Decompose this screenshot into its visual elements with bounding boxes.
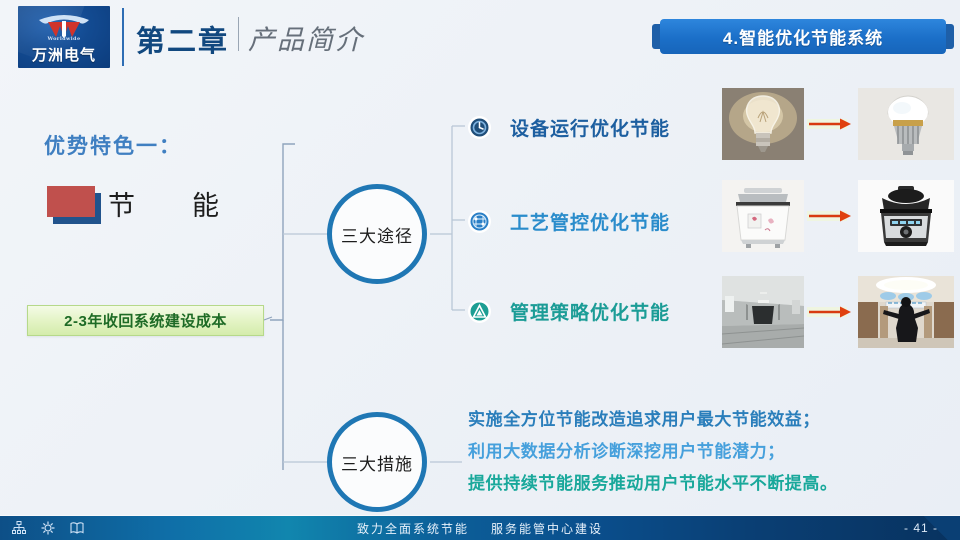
incandescent-bulb-photo <box>722 88 804 160</box>
page-number: - 41 - <box>904 516 938 540</box>
arrow-right-icon <box>804 301 858 323</box>
cost-callout-label: 2-3年收回系统建设成本 <box>64 310 227 331</box>
branch-item-process[interactable]: 工艺管控优化节能 <box>468 208 670 235</box>
branch-item-management[interactable]: 管理策略优化节能 <box>468 298 670 325</box>
branch-item-equipment-label: 设备运行优化节能 <box>510 114 670 141</box>
branch-item-management-label: 管理策略优化节能 <box>510 298 670 325</box>
triangle-alert-icon <box>468 300 491 323</box>
feature-keyword: 节 能 <box>108 184 220 223</box>
photo-row-lighting <box>722 88 954 160</box>
footer-slogan-right: 服务能管中心建设 <box>491 520 603 537</box>
arrow-right-icon <box>804 205 858 227</box>
rice-cooker-photo <box>722 180 804 252</box>
footer-slogan-left: 致力全面系统节能 <box>357 520 469 537</box>
photo-row-corridor <box>722 276 954 348</box>
led-bulb-photo <box>858 88 954 160</box>
clock-gauge-icon <box>468 116 491 139</box>
measure-line-3: 提供持续节能服务推动用户节能水平不断提高。 <box>468 468 948 500</box>
measures-text-block: 实施全方位节能改造追求用户最大节能效益； 利用大数据分析诊断深挖用户节能潜力； … <box>468 404 948 500</box>
footer-slogan: 致力全面系统节能 服务能管中心建设 <box>0 516 960 540</box>
photo-row-cooker <box>722 180 954 252</box>
slide-footer: 致力全面系统节能 服务能管中心建设 - 41 - <box>0 516 960 540</box>
pressure-cooker-photo <box>858 180 954 252</box>
cost-callout-box: 2-3年收回系统建设成本 <box>27 305 264 336</box>
lit-lobby-photo <box>858 276 954 348</box>
arrow-right-icon <box>804 113 858 135</box>
node-three-actions[interactable]: 三大措施 <box>327 412 427 512</box>
measure-line-2: 利用大数据分析诊断深挖用户节能潜力； <box>468 436 948 468</box>
branch-item-equipment[interactable]: 设备运行优化节能 <box>468 114 670 141</box>
node-three-actions-label: 三大措施 <box>341 450 413 475</box>
feature-heading: 优势特色一： <box>44 130 182 160</box>
node-three-paths[interactable]: 三大途径 <box>327 184 427 284</box>
dark-corridor-photo <box>722 276 804 348</box>
measure-line-1: 实施全方位节能改造追求用户最大节能效益； <box>468 404 948 436</box>
branch-item-process-label: 工艺管控优化节能 <box>510 208 670 235</box>
node-three-paths-label: 三大途径 <box>341 222 413 247</box>
color-swatch <box>47 186 95 217</box>
network-nodes-icon <box>468 210 491 233</box>
